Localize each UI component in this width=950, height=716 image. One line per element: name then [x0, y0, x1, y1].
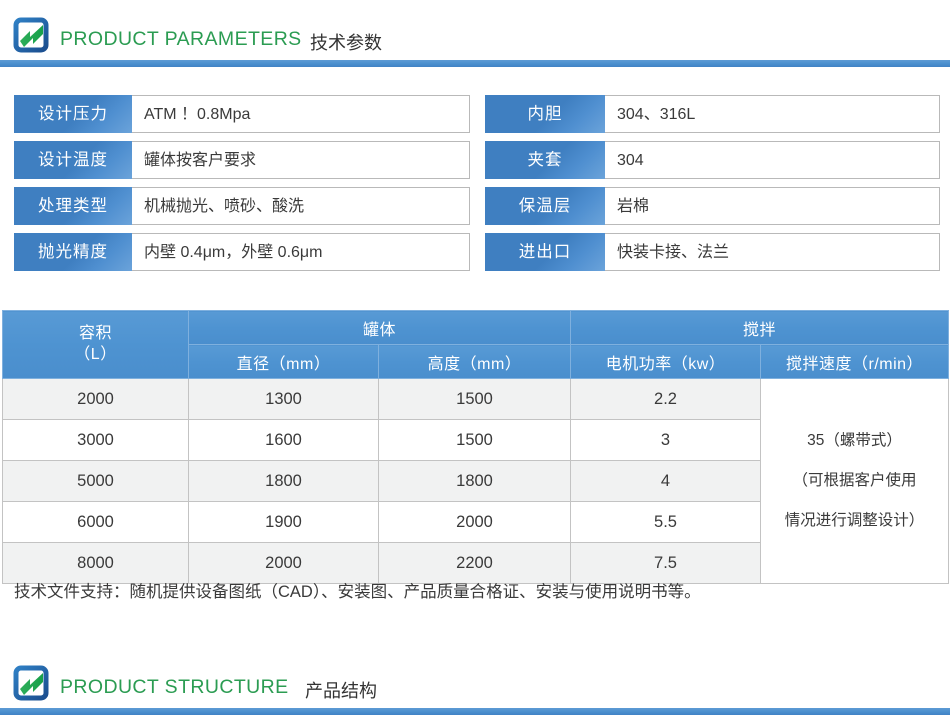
cell-height: 1800: [379, 461, 571, 502]
capacity-table-wrap: 容积 （L） 罐体 搅拌 直径（mm） 高度（mm） 电机功率（kw） 搅拌速度…: [2, 310, 948, 584]
cell-capacity: 2000: [3, 379, 189, 420]
cell-diameter: 1600: [189, 420, 379, 461]
spec-value: 内壁 0.4μm，外壁 0.6μm: [132, 233, 470, 271]
spec-value: 304: [605, 141, 940, 179]
section-header-parameters: PRODUCT PARAMETERS 技术参数: [0, 0, 950, 60]
section-title-cn: 产品结构: [305, 677, 377, 703]
spec-row: 夹套 304: [485, 141, 940, 179]
cell-mix-speed-merged: 35（螺带式） （可根据客户使用 情况进行调整设计）: [761, 379, 949, 584]
mix-speed-line2: （可根据客户使用: [765, 461, 944, 501]
table-header-row-group: 容积 （L） 罐体 搅拌: [3, 311, 949, 345]
cell-capacity: 3000: [3, 420, 189, 461]
section-title-cn: 技术参数: [310, 29, 382, 55]
cell-height: 2000: [379, 502, 571, 543]
spec-table-left: 设计压力 ATM ！0.8Mpa 设计温度 罐体按客户要求 处理类型 机械抛光、…: [14, 95, 470, 279]
section-header-structure: PRODUCT STRUCTURE 产品结构: [0, 656, 950, 715]
cell-motor: 3: [571, 420, 761, 461]
spec-value: 岩棉: [605, 187, 940, 225]
cell-height: 1500: [379, 379, 571, 420]
spec-label: 抛光精度: [14, 233, 132, 271]
cell-diameter: 1800: [189, 461, 379, 502]
section-title-en: PRODUCT PARAMETERS: [60, 28, 302, 51]
technical-documents-note: 技术文件支持：随机提供设备图纸（CAD）、安装图、产品质量合格证、安装与使用说明…: [14, 578, 701, 602]
spec-row: 设计温度 罐体按客户要求: [14, 141, 470, 179]
header-capacity-line2: （L）: [3, 345, 188, 365]
cell-capacity: 5000: [3, 461, 189, 502]
spec-value: 304、316L: [605, 95, 940, 133]
green-arrow-in-blue-square-logo-icon: [12, 664, 50, 702]
spec-label: 进出口: [485, 233, 605, 271]
cell-diameter: 1300: [189, 379, 379, 420]
header-mix-speed: 搅拌速度（r/min）: [761, 345, 949, 379]
section-title-en: PRODUCT STRUCTURE: [60, 676, 289, 699]
header-motor-power: 电机功率（kw）: [571, 345, 761, 379]
spec-value: 罐体按客户要求: [132, 141, 470, 179]
spec-tables-area: 设计压力 ATM ！0.8Mpa 设计温度 罐体按客户要求 处理类型 机械抛光、…: [0, 95, 950, 285]
spec-table-right: 内胆 304、316L 夹套 304 保温层 岩棉 进出口 快装卡接、法兰: [485, 95, 940, 279]
header-group-mix: 搅拌: [571, 311, 949, 345]
header-diameter: 直径（mm）: [189, 345, 379, 379]
header-group-tank: 罐体: [189, 311, 571, 345]
header-capacity-line1: 容积: [3, 324, 188, 344]
table-row: 2000 1300 1500 2.2 35（螺带式） （可根据客户使用 情况进行…: [3, 379, 949, 420]
cell-diameter: 1900: [189, 502, 379, 543]
spec-row: 抛光精度 内壁 0.4μm，外壁 0.6μm: [14, 233, 470, 271]
spec-row: 处理类型 机械抛光、喷砂、酸洗: [14, 187, 470, 225]
header-capacity: 容积 （L）: [3, 311, 189, 379]
green-arrow-in-blue-square-logo-icon: [12, 16, 50, 54]
cell-motor: 5.5: [571, 502, 761, 543]
mix-speed-line1: 35（螺带式）: [765, 421, 944, 461]
cell-height: 1500: [379, 420, 571, 461]
spec-value: ATM ！0.8Mpa: [132, 95, 470, 133]
header-divider-bar: [0, 60, 950, 67]
spec-label: 设计温度: [14, 141, 132, 179]
spec-row: 内胆 304、316L: [485, 95, 940, 133]
spec-row: 进出口 快装卡接、法兰: [485, 233, 940, 271]
spec-label: 处理类型: [14, 187, 132, 225]
cell-capacity: 6000: [3, 502, 189, 543]
spec-value: 快装卡接、法兰: [605, 233, 940, 271]
spec-label: 内胆: [485, 95, 605, 133]
spec-label: 夹套: [485, 141, 605, 179]
spec-label: 设计压力: [14, 95, 132, 133]
spec-value: 机械抛光、喷砂、酸洗: [132, 187, 470, 225]
spec-row: 保温层 岩棉: [485, 187, 940, 225]
spec-row: 设计压力 ATM ！0.8Mpa: [14, 95, 470, 133]
mix-speed-line3: 情况进行调整设计）: [765, 501, 944, 541]
cell-motor: 2.2: [571, 379, 761, 420]
header-divider-bar: [0, 708, 950, 715]
header-height: 高度（mm）: [379, 345, 571, 379]
spec-label: 保温层: [485, 187, 605, 225]
capacity-table: 容积 （L） 罐体 搅拌 直径（mm） 高度（mm） 电机功率（kw） 搅拌速度…: [2, 310, 949, 584]
cell-motor: 4: [571, 461, 761, 502]
